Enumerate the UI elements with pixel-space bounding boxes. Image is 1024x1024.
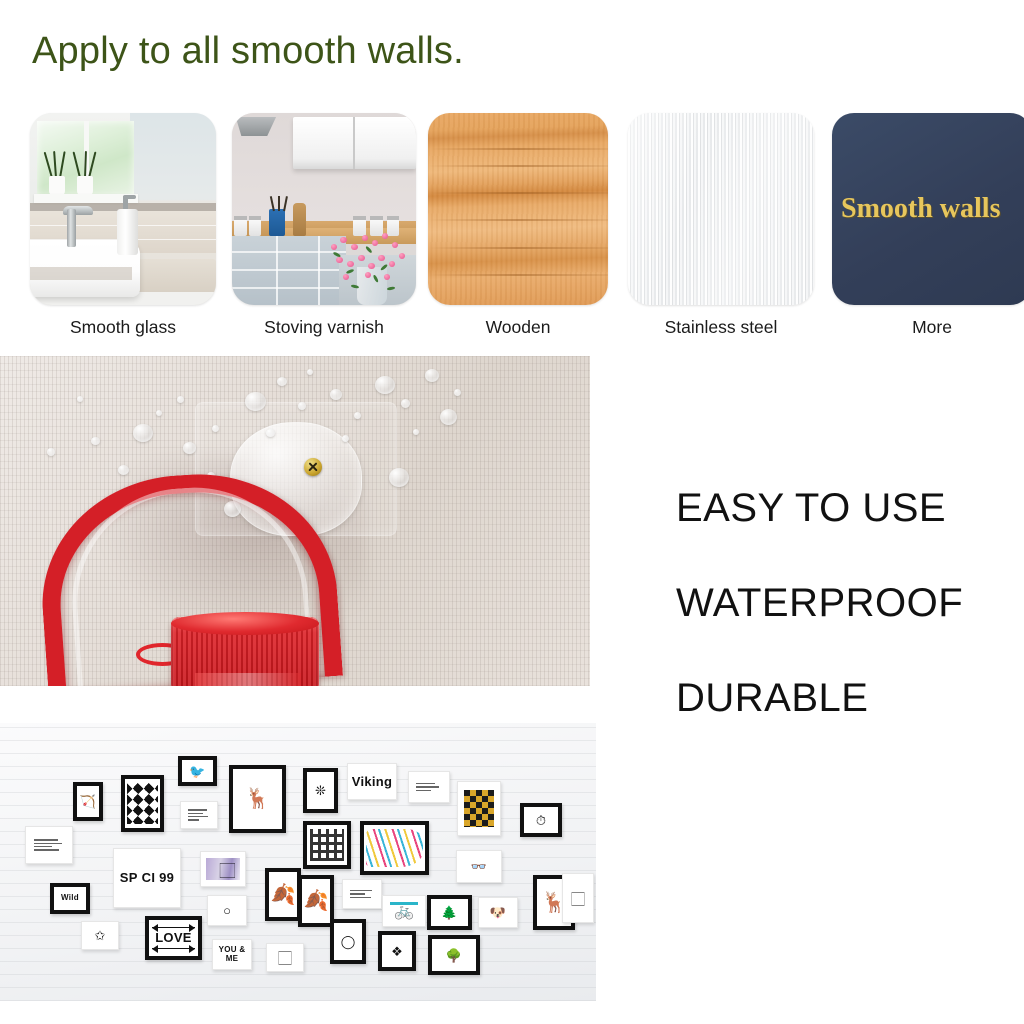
frame-handwritten-quote [25, 826, 73, 864]
frame-antlers-quote: 🦌 [229, 765, 286, 833]
leaf-icon: 🍂 [271, 885, 296, 905]
frame-abstract-shape: ❖ [378, 931, 416, 971]
circle-icon: ○ [223, 904, 231, 917]
feather-icon: ✩ [95, 929, 106, 942]
water-droplet [266, 429, 275, 437]
surface-tile-label: Stoving varnish [232, 317, 416, 338]
frame-blob-pattern: ❊ [303, 768, 338, 813]
tree-icon: 🌲 [441, 906, 457, 919]
deer-icon: 🏻 [571, 892, 584, 905]
deer-icon: 🏹 [80, 795, 96, 808]
frame-color-checker [457, 781, 501, 836]
frame-mustache-glasses: 👓 [456, 850, 502, 883]
frame-bird: 🐦 [178, 756, 217, 786]
frame-diamond-pattern [121, 775, 164, 832]
mustache-icon: 👓 [471, 860, 487, 873]
bathroom-photo [30, 113, 216, 305]
water-droplet [425, 369, 439, 382]
frame-circle-sketch: ◯ [330, 919, 366, 964]
abstract-icon: ❖ [391, 945, 403, 958]
frame-text-youme: YOU & ME [217, 946, 247, 963]
frame-deer-head: 🏹 [73, 782, 103, 821]
circle-icon: ◯ [341, 935, 356, 948]
frame-dog-face: 🐶 [478, 897, 518, 928]
frame-text-wild: Wild [61, 894, 79, 902]
feature-waterproof: WATERPROOF [676, 581, 1024, 626]
surface-tile-label: Wooden [428, 317, 608, 338]
water-droplet [133, 424, 153, 442]
wood-texture-swatch [428, 113, 608, 305]
frame-deer-small: 🏻 [266, 943, 304, 972]
frame-deer-bottom: 🏻 [562, 873, 594, 923]
frame-feather-sketch: ✩ [81, 921, 119, 950]
surface-tile-stoving-varnish[interactable]: Stoving varnish [232, 113, 416, 305]
feature-durable: DURABLE [676, 676, 1024, 721]
surface-tile-label: More [832, 317, 1024, 338]
water-droplet [307, 369, 313, 375]
steel-texture-swatch [628, 113, 814, 305]
frame-purple-forest-deer: 🏻 [200, 851, 246, 887]
kitchen-photo [232, 113, 416, 305]
frame-clock: ⏱ [520, 803, 562, 837]
frame-rune-symbols [303, 821, 351, 869]
bird-icon: 🐦 [189, 765, 205, 778]
water-droplet [183, 442, 196, 454]
frame-symbols-top [408, 771, 450, 803]
blob-icon: ❊ [315, 784, 326, 797]
frame-circle-word: ○ [207, 895, 247, 926]
frame-scribble-small [180, 801, 218, 829]
water-droplet [375, 376, 395, 394]
water-droplet [177, 396, 184, 403]
frame-gallery-photo: 🏹 🐦 🦌 SP CI 99 🏻 Wild ✩ LOVE ○ [0, 723, 596, 1001]
frame-text-viking: Viking [352, 775, 392, 789]
deer-icon: 🏻 [278, 951, 291, 964]
clock-icon: ⏱ [536, 814, 546, 827]
dog-icon: 🐶 [490, 906, 506, 919]
frame-spci99: SP CI 99 [113, 848, 181, 908]
frame-text-spci99: SP CI 99 [120, 871, 174, 885]
frame-you-and-me: YOU & ME [212, 939, 252, 970]
surface-tile-label: Stainless steel [628, 317, 814, 338]
water-droplet [440, 409, 457, 425]
water-droplet [118, 465, 129, 475]
forest-icon: 🌳 [446, 949, 462, 962]
surface-tile-more[interactable]: Smooth walls More [832, 113, 1024, 305]
surface-tile-smooth-glass[interactable]: Smooth glass [30, 113, 216, 305]
smooth-walls-card: Smooth walls [832, 113, 1024, 305]
page-title: Apply to all smooth walls. [32, 30, 464, 73]
bottle-cap-top [171, 612, 319, 635]
frame-bicycle: 🚲 [382, 895, 426, 927]
frame-text-block [342, 879, 382, 909]
feature-list: EASY TO USE WATERPROOF DURABLE [676, 486, 1024, 771]
frame-viking: Viking [347, 763, 397, 800]
frame-love: LOVE [145, 916, 202, 960]
bottle-neck [195, 673, 301, 686]
surface-tile-label: Smooth glass [30, 317, 216, 338]
frame-christmas-tree: 🌲 [427, 895, 472, 930]
surface-tile-stainless-steel[interactable]: Stainless steel [628, 113, 814, 305]
frame-wild: Wild [50, 883, 90, 914]
frame-leaf-right: 🍂 [298, 875, 334, 927]
water-droplet [413, 429, 419, 435]
frame-leaf-left: 🍂 [265, 868, 301, 921]
hook-waterproof-photo [0, 356, 590, 686]
smooth-walls-card-text: Smooth walls [841, 193, 1000, 225]
frame-forest-scene: 🌳 [428, 935, 480, 975]
surface-tile-wooden[interactable]: Wooden [428, 113, 608, 305]
surface-tile-row: Smooth glass [0, 113, 1024, 353]
frame-text-love: LOVE [155, 931, 192, 945]
feature-easy-to-use: EASY TO USE [676, 486, 1024, 531]
antlers-icon: 🦌 [245, 789, 270, 809]
leaf-icon: 🍂 [304, 891, 329, 911]
frame-colorful-zebra [360, 821, 429, 875]
water-droplet [77, 396, 83, 402]
deer-icon: 🏻 [220, 862, 235, 879]
